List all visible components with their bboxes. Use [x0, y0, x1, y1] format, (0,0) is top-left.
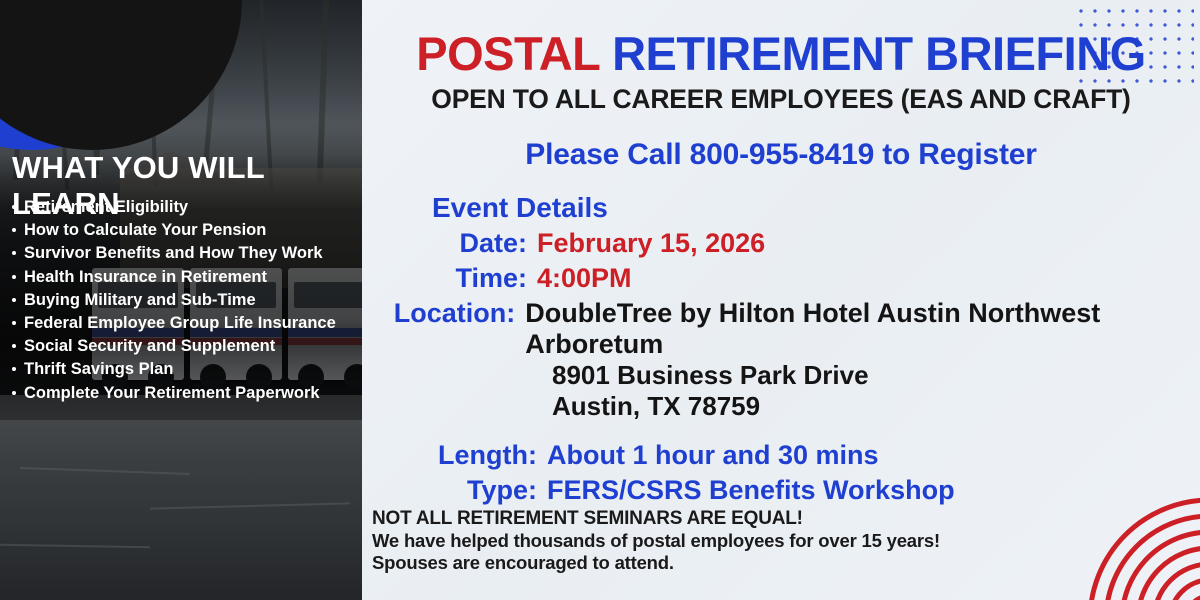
list-item: Complete Your Retirement Paperwork	[10, 382, 362, 405]
footer-block: NOT ALL RETIREMENT SEMINARS ARE EQUAL! W…	[372, 508, 1072, 574]
event-location-row: Location: DoubleTree by Hilton Hotel Aus…	[392, 298, 1182, 360]
page-subtitle: OPEN TO ALL CAREER EMPLOYEES (EAS AND CR…	[362, 84, 1200, 115]
type-label: Type:	[392, 475, 537, 506]
date-value: February 15, 2026	[537, 228, 765, 259]
type-value: FERS/CSRS Benefits Workshop	[547, 475, 955, 506]
page-title: POSTAL RETIREMENT BRIEFING	[362, 26, 1200, 81]
footer-line-3: Spouses are encouraged to attend.	[372, 552, 1072, 574]
learn-bullet-list: Retirement Eligibility How to Calculate …	[10, 196, 362, 405]
poster-canvas: WHAT YOU WILL LEARN Retirement Eligibili…	[0, 0, 1200, 600]
length-value: About 1 hour and 30 mins	[547, 440, 879, 471]
list-item: Social Security and Supplement	[10, 335, 362, 358]
road	[0, 395, 362, 600]
list-item: How to Calculate Your Pension	[10, 219, 362, 242]
page-title-blue: RETIREMENT BRIEFING	[600, 27, 1146, 80]
list-item: Thrift Savings Plan	[10, 358, 362, 381]
event-length-row: Length: About 1 hour and 30 mins	[392, 440, 1182, 471]
time-label: Time:	[392, 263, 527, 294]
date-label: Date:	[392, 228, 527, 259]
event-details-block: Event Details Date: February 15, 2026 Ti…	[392, 192, 1182, 506]
event-details-heading: Event Details	[432, 192, 1182, 224]
register-call-line: Please Call 800-955-8419 to Register	[362, 138, 1200, 172]
list-item: Retirement Eligibility	[10, 196, 362, 219]
list-item: Survivor Benefits and How They Work	[10, 242, 362, 265]
length-label: Length:	[392, 440, 537, 471]
page-title-red: POSTAL	[416, 27, 599, 80]
left-photo-panel: WHAT YOU WILL LEARN Retirement Eligibili…	[0, 0, 362, 600]
time-value: 4:00PM	[537, 263, 632, 294]
location-line-1: DoubleTree by Hilton Hotel Austin Northw…	[525, 298, 1182, 360]
location-label: Location:	[392, 298, 515, 329]
event-date-row: Date: February 15, 2026	[392, 228, 1182, 259]
list-item: Buying Military and Sub-Time	[10, 289, 362, 312]
event-time-row: Time: 4:00PM	[392, 263, 1182, 294]
location-line-2: 8901 Business Park Drive	[552, 360, 1182, 391]
location-line-3: Austin, TX 78759	[552, 391, 1182, 422]
list-item: Federal Employee Group Life Insurance	[10, 312, 362, 335]
event-type-row: Type: FERS/CSRS Benefits Workshop	[392, 475, 1182, 506]
footer-line-1: NOT ALL RETIREMENT SEMINARS ARE EQUAL!	[372, 508, 1072, 530]
footer-line-2: We have helped thousands of postal emplo…	[372, 530, 1072, 552]
list-item: Health Insurance in Retirement	[10, 266, 362, 289]
